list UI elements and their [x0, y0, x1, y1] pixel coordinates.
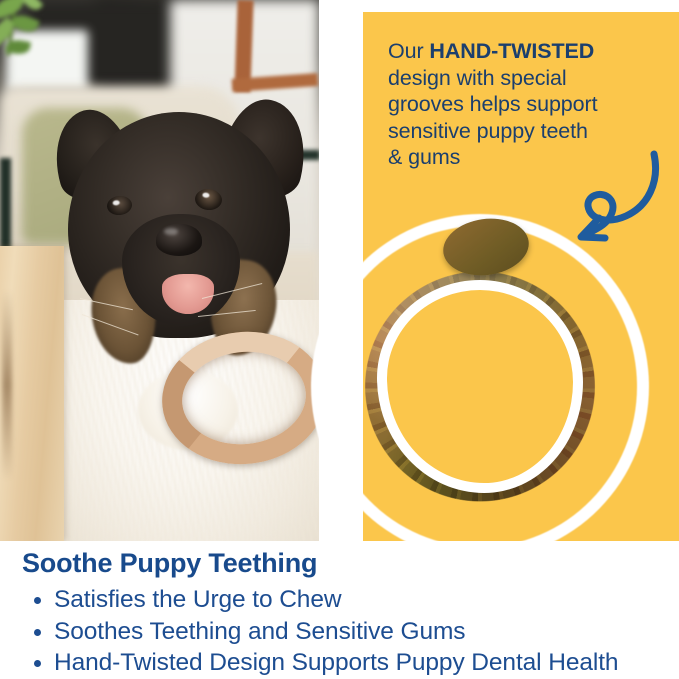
headline-line-4: sensitive puppy teeth: [388, 119, 588, 143]
bullet-dot-icon: [34, 597, 41, 604]
product-infographic: Our HAND-TWISTED design with special gro…: [0, 0, 679, 679]
benefits-list: Satisfies the Urge to Chew Soothes Teeth…: [32, 584, 618, 679]
puppy-holding-chew-ring-photo: [0, 0, 319, 541]
wood-grain: [2, 290, 12, 480]
headline-line-5: & gums: [388, 145, 460, 169]
list-item: Satisfies the Urge to Chew: [32, 584, 618, 616]
hand-twisted-dog-chew-ring: [311, 214, 649, 559]
benefits-title: Soothe Puppy Teething: [22, 548, 317, 579]
puppy: [52, 84, 319, 504]
list-item: Soothes Teething and Sensitive Gums: [32, 616, 618, 648]
headline-strong: HAND-TWISTED: [429, 39, 594, 63]
puppy-nose-highlight: [164, 228, 178, 235]
bottom-benefits-block: Soothe Puppy Teething Satisfies the Urge…: [0, 541, 679, 679]
list-item-label: Satisfies the Urge to Chew: [54, 586, 341, 613]
bullet-dot-icon: [34, 660, 41, 667]
list-item: Hand-Twisted Design Supports Puppy Denta…: [32, 647, 618, 679]
puppy-nose: [156, 224, 202, 256]
headline-line-3: grooves helps support: [388, 92, 597, 116]
list-item-label: Hand-Twisted Design Supports Puppy Denta…: [54, 649, 618, 676]
headline-lead: Our: [388, 39, 429, 63]
bullet-dot-icon: [34, 629, 41, 636]
eye-highlight: [202, 192, 209, 198]
chew-ring-in-mouth: [156, 324, 319, 472]
eye-highlight: [112, 200, 119, 206]
list-item-label: Soothes Teething and Sensitive Gums: [54, 618, 465, 645]
leaf: [21, 0, 44, 13]
headline-line-2: design with special: [388, 66, 567, 90]
plant-leaves-decor: [0, 0, 78, 70]
